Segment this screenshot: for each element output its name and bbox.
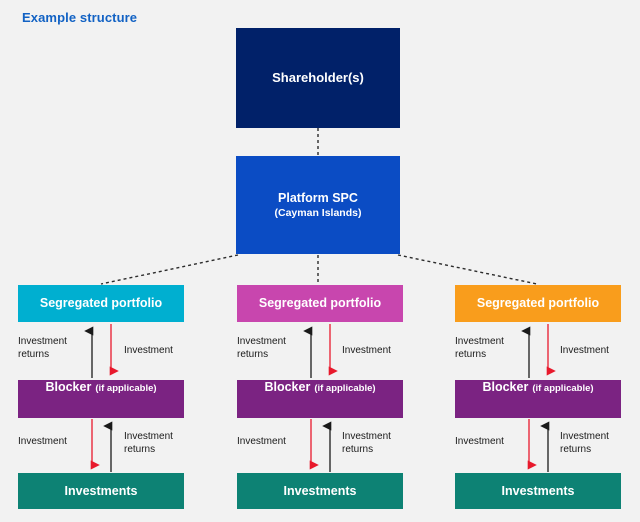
node-segregated-portfolio-3[interactable]: Segregated portfolio: [455, 285, 621, 322]
node-segregated-portfolio-2[interactable]: Segregated portfolio: [237, 285, 403, 322]
label-investment-upper-2: Investment: [342, 345, 391, 358]
node-platform-spc-label: Platform SPC: [278, 191, 358, 205]
label-investment-returns-upper-2: Investment returns: [237, 336, 286, 361]
node-segregated-portfolio-3-label: Segregated portfolio: [477, 296, 599, 310]
label-investment-lower-3: Investment: [455, 436, 504, 449]
label-investment-lower-2: Investment: [237, 436, 286, 449]
node-shareholders-label: Shareholder(s): [272, 71, 364, 86]
node-investments-1[interactable]: Investments: [18, 473, 184, 509]
label-investment-returns-lower-1: Investment returns: [124, 431, 173, 456]
node-blocker-2-note: (if applicable): [314, 384, 375, 395]
example-structure-diagram: Example structure: [0, 0, 640, 522]
node-segregated-portfolio-1-label: Segregated portfolio: [40, 296, 162, 310]
label-investment-returns-upper-1: Investment returns: [18, 336, 67, 361]
node-blocker-3-label: Blocker: [482, 380, 528, 394]
node-blocker-3-note: (if applicable): [532, 384, 593, 395]
node-platform-spc-sublabel: (Cayman Islands): [275, 207, 362, 219]
node-blocker-1[interactable]: Blocker (if applicable): [18, 380, 184, 418]
label-investment-upper-1: Investment: [124, 345, 173, 358]
node-platform-spc[interactable]: Platform SPC (Cayman Islands): [236, 156, 400, 254]
node-blocker-1-note: (if applicable): [95, 384, 156, 395]
node-blocker-2[interactable]: Blocker (if applicable): [237, 380, 403, 418]
label-investment-returns-lower-2: Investment returns: [342, 431, 391, 456]
node-investments-2[interactable]: Investments: [237, 473, 403, 509]
node-investments-3[interactable]: Investments: [455, 473, 621, 509]
node-investments-2-label: Investments: [284, 484, 357, 498]
label-investment-lower-1: Investment: [18, 436, 67, 449]
label-investment-returns-lower-3: Investment returns: [560, 431, 609, 456]
node-blocker-2-label: Blocker: [264, 380, 310, 394]
node-shareholders[interactable]: Shareholder(s): [236, 28, 400, 128]
node-segregated-portfolio-1[interactable]: Segregated portfolio: [18, 285, 184, 322]
node-blocker-1-label: Blocker: [45, 380, 91, 394]
node-investments-1-label: Investments: [65, 484, 138, 498]
label-investment-returns-upper-3: Investment returns: [455, 336, 504, 361]
label-investment-upper-3: Investment: [560, 345, 609, 358]
page-title: Example structure: [22, 10, 137, 25]
node-blocker-3[interactable]: Blocker (if applicable): [455, 380, 621, 418]
node-investments-3-label: Investments: [502, 484, 575, 498]
node-segregated-portfolio-2-label: Segregated portfolio: [259, 296, 381, 310]
